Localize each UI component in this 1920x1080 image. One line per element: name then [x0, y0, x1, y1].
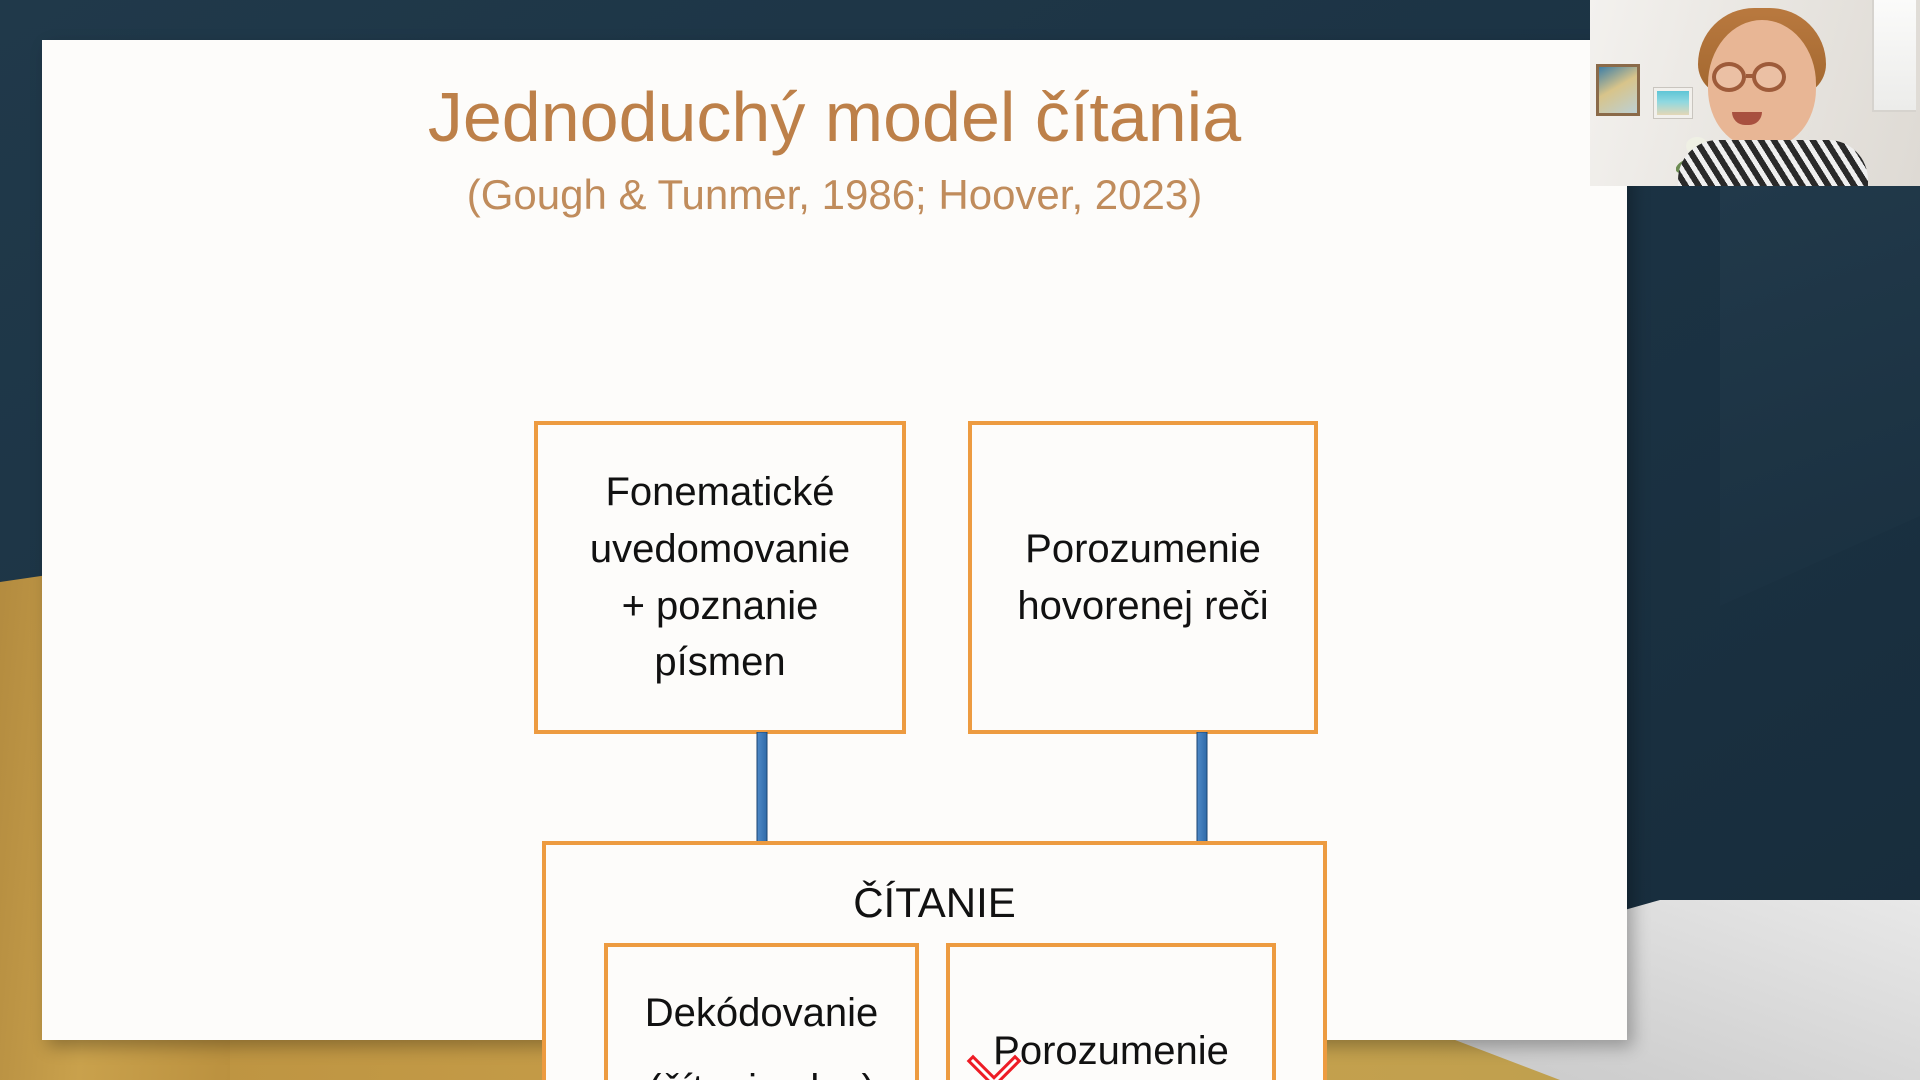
box-listening-comprehension: Porozumenie hovorenej reči	[968, 421, 1318, 734]
video-framed-picture-left	[1596, 64, 1640, 116]
box-reading-container: ČÍTANIE Dekódovanie (čítanie slov) Poroz…	[542, 841, 1327, 1080]
label-citanie: ČÍTANIE	[546, 873, 1323, 933]
box-decoding: Dekódovanie (čítanie slov)	[604, 943, 919, 1080]
video-window	[1872, 0, 1916, 112]
video-person-clothing	[1678, 140, 1868, 186]
box-phonemic-awareness: Fonematické uvedomovanie + poznanie písm…	[534, 421, 906, 734]
video-framed-picture-right	[1654, 88, 1692, 118]
reading-model-diagram: Fonematické uvedomovanie + poznanie písm…	[42, 216, 1627, 976]
multiply-x-icon	[966, 1054, 1022, 1080]
video-glasses-right-lens	[1752, 62, 1786, 92]
slide-title: Jednoduchý model čítania	[42, 82, 1627, 152]
presenter-video-tile[interactable]	[1590, 0, 1920, 186]
video-glasses-left-lens	[1712, 62, 1746, 92]
video-glasses-bridge	[1746, 74, 1754, 78]
slide-subtitle-citation: (Gough & Tunmer, 1986; Hoover, 2023)	[42, 174, 1627, 216]
presentation-slide: Jednoduchý model čítania (Gough & Tunmer…	[42, 40, 1627, 1040]
